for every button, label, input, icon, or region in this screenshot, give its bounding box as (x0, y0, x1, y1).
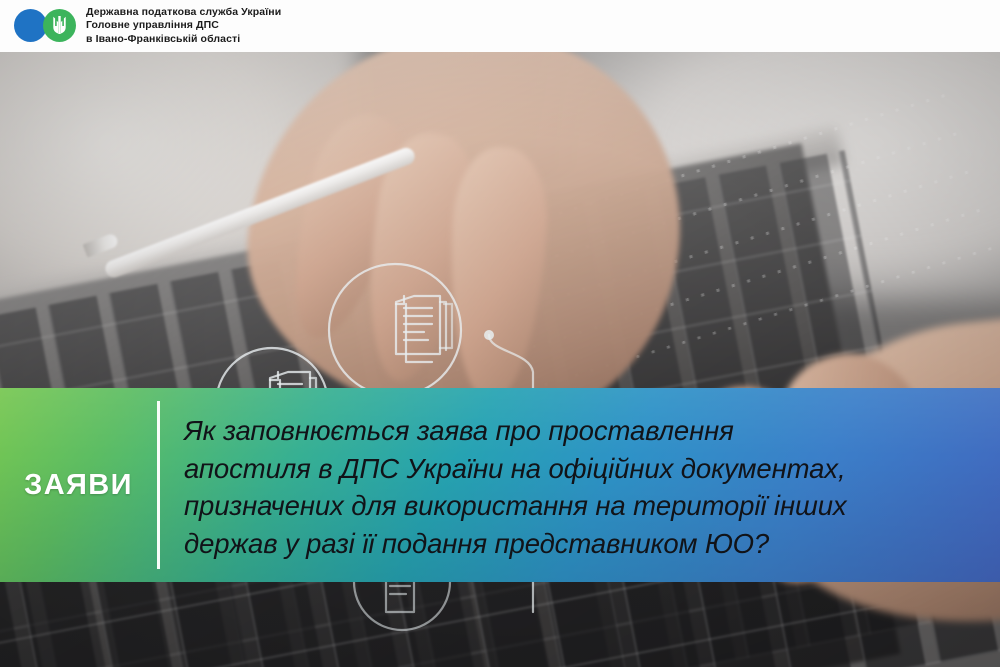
banner-title-line-3: призначених для використання на територі… (184, 487, 982, 525)
banner-title-line-4: держав у разі її подання представником Ю… (184, 525, 982, 563)
banner-category-label: ЗАЯВИ (0, 388, 157, 582)
header-line-2: Головне управління ДПС (86, 19, 281, 32)
banner-title-line-1: Як заповнюється заява про проставлення (184, 412, 982, 450)
banner-title: Як заповнюється заява про проставлення а… (184, 412, 982, 562)
page-root: Державна податкова служба України Головн… (0, 0, 1000, 667)
dps-logo[interactable] (14, 9, 76, 43)
header-line-3: в Івано-Франківській області (86, 33, 281, 46)
site-header: Державна податкова служба України Головн… (0, 0, 1000, 52)
header-org-name: Державна податкова служба України Головн… (86, 6, 281, 46)
hero-banner: ЗАЯВИ Як заповнюється заява про проставл… (0, 388, 1000, 582)
header-line-1: Державна податкова служба України (86, 6, 281, 19)
banner-category-text: ЗАЯВИ (24, 469, 133, 502)
banner-title-line-2: апостиля в ДПС України на офіційних доку… (184, 450, 982, 488)
banner-divider (157, 401, 160, 569)
trident-emblem-icon (52, 15, 67, 36)
